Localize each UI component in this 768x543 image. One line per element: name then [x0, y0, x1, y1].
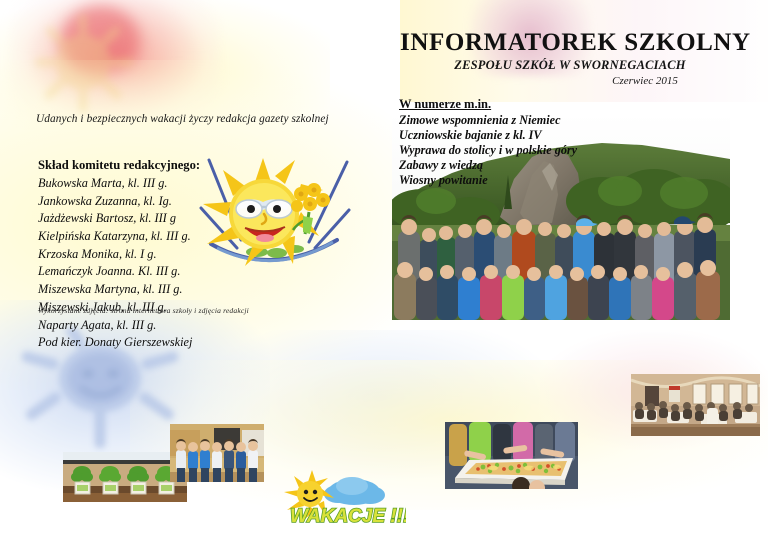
- sun-watermark-top-icon: [8, 10, 158, 120]
- photo-hall-event: [631, 374, 760, 436]
- pink-flower-core-top: [60, 6, 140, 76]
- committee-supervisor: Pod kier. Donaty Gierszewskiej: [38, 334, 288, 352]
- newsletter-title: INFORMATOREK SZKOLNY: [400, 30, 740, 56]
- photo-giant-pizza: [445, 422, 578, 489]
- contents-item-4: Wiosny powitanie: [399, 173, 629, 188]
- newsletter-cover-page: INFORMATOREK SZKOLNY ZESPOŁU SZKÓŁ W SWO…: [0, 0, 768, 543]
- contents-item-0: Zimowe wspomnienia z Niemiec: [399, 113, 629, 128]
- newsletter-subtitle: ZESPOŁU SZKÓŁ W SWORNEGACIACH: [400, 58, 740, 73]
- contents-item-1: Uczniowskie bajanie z kl. IV: [399, 128, 629, 143]
- wakacje-logo-text: WAKACJE !!!: [290, 506, 406, 527]
- photo-windowsill-plants: [63, 452, 187, 502]
- contents-heading: W numerze m.in.: [399, 97, 629, 113]
- photo-credit-note: Wykorzystane zdjęcia: strona internetowa…: [38, 306, 249, 315]
- wakacje-logo: WAKACJE !!!: [282, 468, 406, 530]
- contents-box: W numerze m.in. Zimowe wspomnienia z Nie…: [399, 97, 629, 188]
- masthead: INFORMATOREK SZKOLNY ZESPOŁU SZKÓŁ W SWO…: [400, 30, 740, 87]
- holiday-greeting: Udanych i bezpiecznych wakacji życzy red…: [36, 113, 366, 125]
- committee-member-6: Miszewska Martyna, kl. III g.: [38, 281, 288, 299]
- committee-member-8: Naparty Agata, kl. III g.: [38, 317, 288, 335]
- newsletter-date: Czerwiec 2015: [400, 75, 740, 87]
- contents-item-2: Wyprawa do stolicy i w polskie góry: [399, 143, 629, 158]
- sun-in-hammock-icon: [197, 152, 352, 280]
- yellow-wash-top-left: [0, 0, 330, 130]
- pink-flower-watermark-top: [10, 0, 220, 120]
- photo-classroom-kids: [170, 424, 264, 482]
- contents-item-3: Zabawy z wiedzą: [399, 158, 629, 173]
